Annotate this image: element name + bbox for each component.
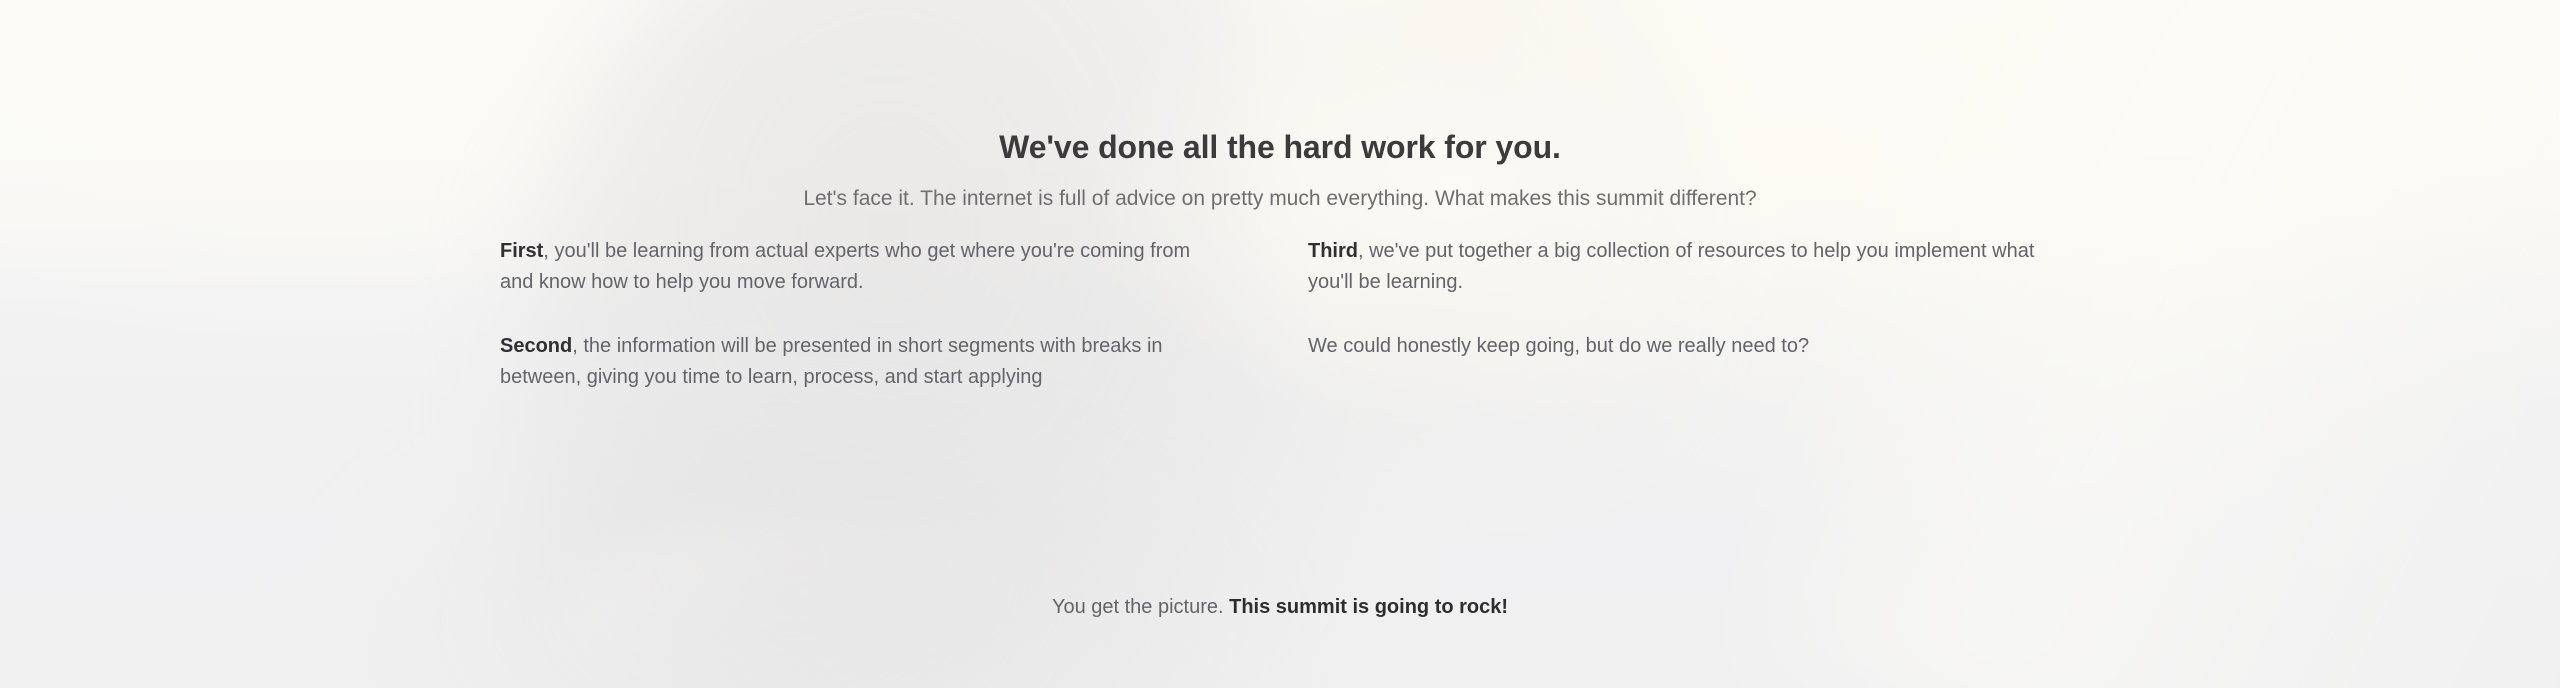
reason-first: First, you'll be learning from actual ex… xyxy=(500,236,1200,297)
hero-content: We've done all the hard work for you. Le… xyxy=(0,0,2560,688)
section-headline: We've done all the hard work for you. xyxy=(0,127,2560,167)
reasons-column-left: First, you'll be learning from actual ex… xyxy=(500,236,1290,392)
reason-third-text: , we've put together a big collection of… xyxy=(1308,240,2034,293)
reason-second-text: , the information will be presented in s… xyxy=(500,335,1163,388)
reasons-columns: First, you'll be learning from actual ex… xyxy=(500,236,2045,392)
closing-line-emphasis: This summit is going to rock! xyxy=(1229,596,1508,618)
reason-third: Third, we've put together a big collecti… xyxy=(1308,236,2048,297)
reasons-column-right: Third, we've put together a big collecti… xyxy=(1290,236,2063,392)
section-subheadline: Let's face it. The internet is full of a… xyxy=(0,184,2560,213)
reason-second: Second, the information will be presente… xyxy=(500,331,1200,392)
reason-closing-question: We could honestly keep going, but do we … xyxy=(1308,331,2048,362)
reason-second-lead: Second xyxy=(500,335,572,357)
reason-third-lead: Third xyxy=(1308,240,1358,262)
reason-first-text: , you'll be learning from actual experts… xyxy=(500,240,1190,293)
closing-line: You get the picture. This summit is goin… xyxy=(0,592,2560,622)
reason-first-lead: First xyxy=(500,240,543,262)
hero-section: We've done all the hard work for you. Le… xyxy=(0,0,2560,688)
closing-line-normal: You get the picture. xyxy=(1052,596,1229,618)
reason-closing-question-text: We could honestly keep going, but do we … xyxy=(1308,335,1809,357)
